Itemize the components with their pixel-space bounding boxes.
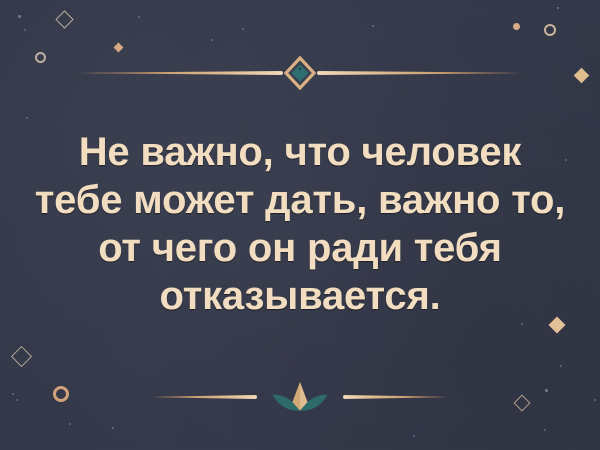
quote-line-3: от чего он ради тебя	[0, 224, 600, 272]
particle-diamond-filled	[113, 42, 123, 52]
particle-dot	[26, 117, 28, 119]
particle-dot	[138, 16, 140, 18]
particle-dot	[557, 7, 559, 9]
quote-card: Не важно, что человек тебе может дать, в…	[0, 0, 600, 450]
quote-line-2: тебе может дать, важно то,	[0, 176, 600, 224]
particle-dot	[544, 429, 546, 431]
particle-dot	[24, 29, 26, 31]
top-divider	[0, 58, 600, 88]
bottom-divider	[0, 380, 600, 414]
particle-ring	[544, 24, 556, 36]
quote-text: Не важно, что человек тебе может дать, в…	[0, 128, 600, 320]
particle-diamond-outline	[55, 10, 73, 28]
particle-dot	[521, 323, 523, 325]
particle-dot	[112, 427, 114, 429]
particle-diamond-outline	[10, 345, 31, 366]
divider-rule-left	[78, 71, 283, 75]
lotus-icon	[257, 380, 343, 414]
particle-dot	[413, 435, 415, 437]
quote-line-1: Не важно, что человек	[0, 128, 600, 176]
divider-rule-right	[343, 395, 448, 399]
particle-dot	[560, 365, 562, 367]
diamond-icon	[283, 56, 317, 90]
particle-dot-filled	[513, 23, 520, 30]
particle-dot	[69, 423, 71, 425]
divider-rule-left	[152, 395, 257, 399]
particle-dot	[372, 25, 374, 27]
divider-rule-right	[317, 71, 522, 75]
particle-dot	[211, 39, 213, 41]
particle-dot	[18, 15, 21, 18]
particle-dot	[242, 28, 244, 30]
quote-line-4: отказывается.	[0, 272, 600, 320]
